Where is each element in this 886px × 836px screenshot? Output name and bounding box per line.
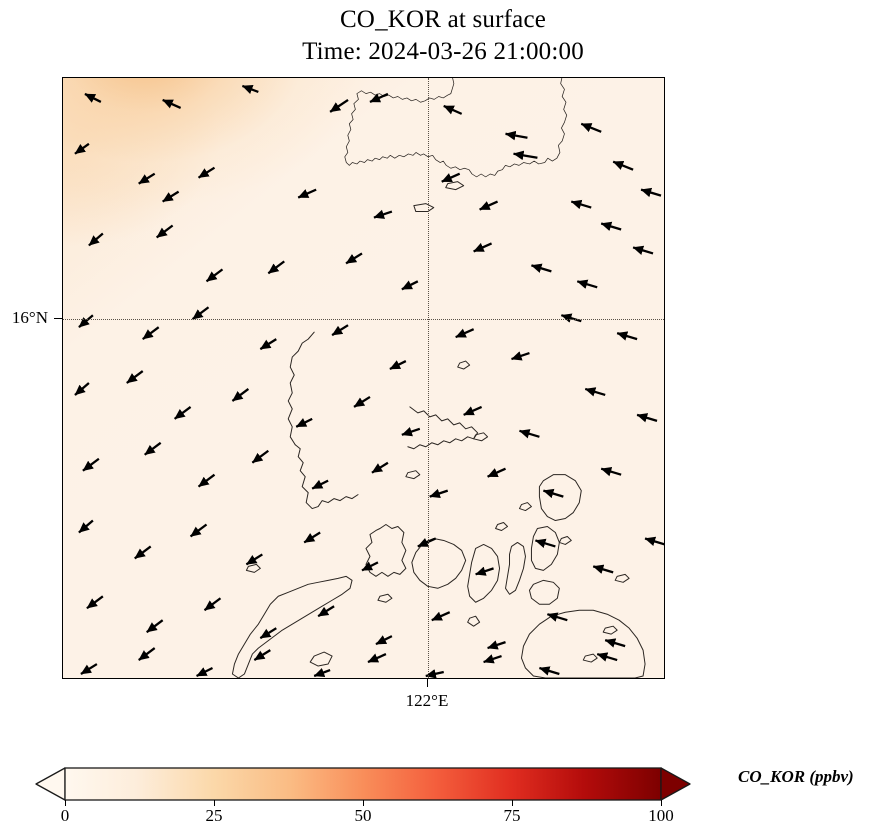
- x-axis-tick-label: 122°E: [406, 691, 449, 711]
- colorbar[interactable]: 0 25 50 75 100: [36, 766, 690, 802]
- colorbar-label: CO_KOR (ppbv): [738, 767, 854, 787]
- title-line-time: Time: 2024-03-26 21:00:00: [0, 36, 886, 68]
- colorbar-ticklabel-100: 100: [648, 806, 674, 826]
- figure-title: CO_KOR at surface Time: 2024-03-26 21:00…: [0, 4, 886, 68]
- map-overlay: [63, 78, 664, 678]
- y-tick-mark-16n: [54, 318, 62, 319]
- wind-vector-arrows: [75, 86, 664, 676]
- gridline-longitude-122e: [428, 78, 429, 678]
- colorbar-gradient: [36, 766, 690, 802]
- colorbar-ticklabel-50: 50: [355, 806, 372, 826]
- y-axis-tick-label: 16°N: [12, 308, 48, 328]
- colorbar-ticklabel-0: 0: [61, 806, 70, 826]
- map-plot-area[interactable]: [62, 77, 665, 679]
- gridline-latitude-16n: [63, 319, 664, 320]
- colorbar-ticks: 0 25 50 75 100: [36, 800, 690, 830]
- title-line-variable: CO_KOR at surface: [0, 4, 886, 36]
- x-tick-mark-122e: [427, 679, 428, 687]
- colorbar-ticklabel-25: 25: [206, 806, 223, 826]
- coastline-paths: [232, 78, 645, 678]
- colorbar-ticklabel-75: 75: [504, 806, 521, 826]
- figure-canvas: CO_KOR at surface Time: 2024-03-26 21:00…: [0, 0, 886, 836]
